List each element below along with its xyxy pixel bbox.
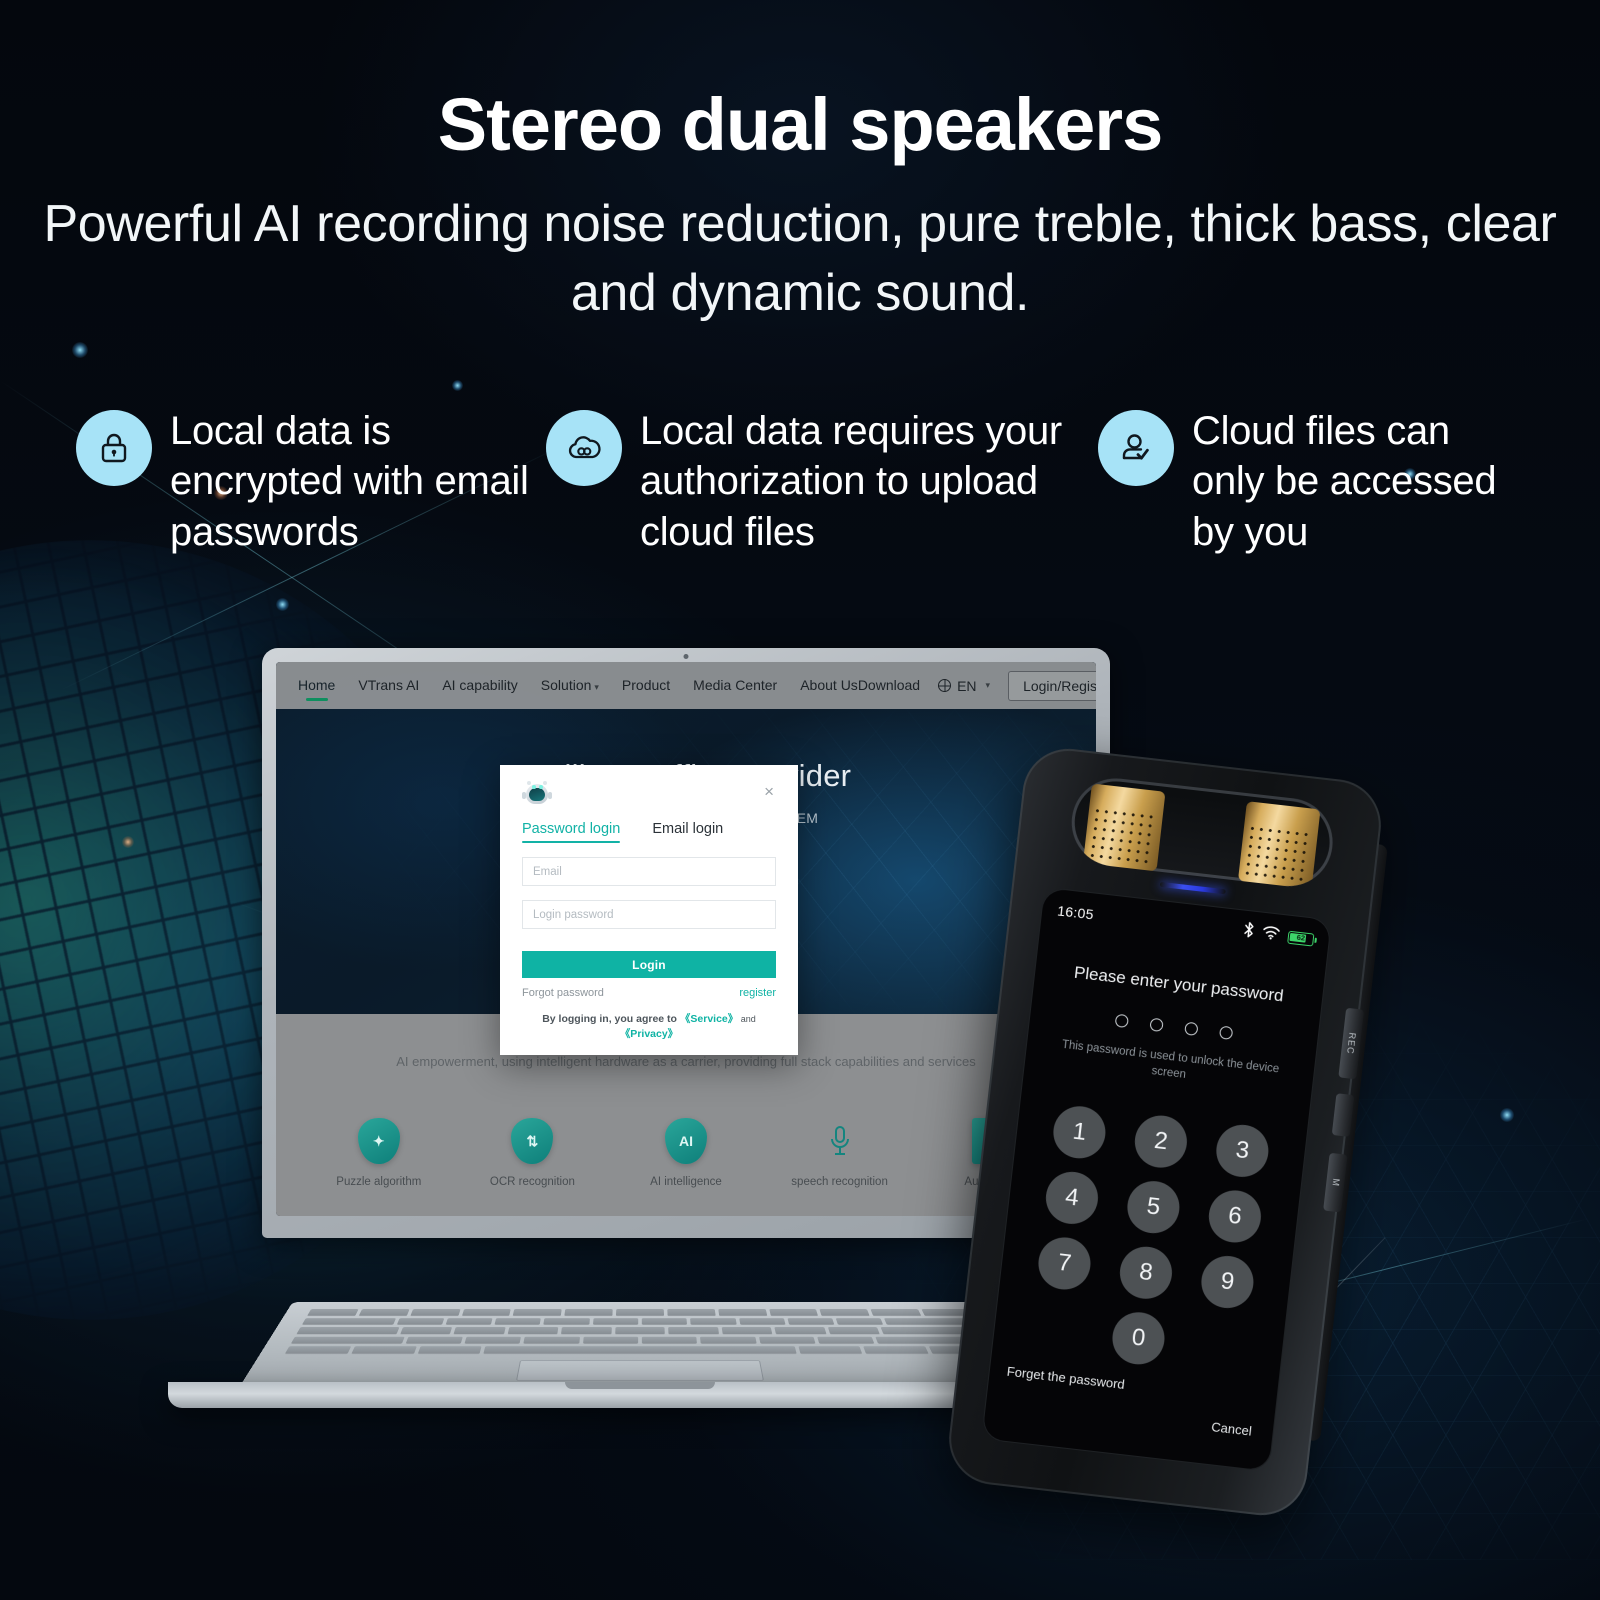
terms-and: and — [738, 1014, 756, 1024]
page-title: Stereo dual speakers — [0, 86, 1600, 164]
lock-screen-title: Please enter your password — [1034, 958, 1324, 1011]
key[interactable] — [351, 1346, 416, 1354]
feature-item-private-cloud-access: Cloud files can only be accessed by you — [1098, 404, 1528, 557]
key[interactable] — [616, 1309, 664, 1316]
key[interactable] — [871, 1309, 922, 1316]
close-icon[interactable]: × — [762, 781, 776, 802]
robot-eye-right — [539, 785, 543, 789]
cloud-link-icon — [546, 410, 622, 486]
capability-item-ai-intelligence[interactable]: AI AI intelligence — [611, 1118, 761, 1188]
robot-face — [529, 788, 545, 801]
capability-item-speech-recognition[interactable]: speech recognition — [765, 1118, 915, 1188]
website-navbar: Home VTrans AI AI capability Solution▾ P… — [276, 662, 1096, 709]
capability-list: ✦ Puzzle algorithm ⇅ OCR recognition AI … — [276, 1118, 1096, 1188]
keypad-key-2[interactable]: 2 — [1132, 1113, 1190, 1171]
nav-label: Home — [298, 677, 335, 693]
keyboard-row — [307, 1309, 973, 1316]
nav-label: Solution — [541, 677, 592, 693]
key[interactable] — [307, 1309, 358, 1316]
capability-label: Puzzle algorithm — [304, 1176, 454, 1188]
key[interactable] — [296, 1327, 399, 1334]
key[interactable] — [302, 1318, 396, 1325]
nav-item-solution[interactable]: Solution▾ — [541, 677, 599, 695]
speaker-left — [1083, 783, 1166, 871]
key[interactable] — [508, 1327, 559, 1334]
laptop-screen: Home VTrans AI AI capability Solution▾ P… — [276, 662, 1096, 1216]
navbar-actions: Download EN ▾ Login/Regis — [858, 671, 1096, 701]
speaker-right — [1238, 801, 1321, 889]
clock: 16:05 — [1056, 902, 1094, 922]
keyboard-row — [285, 1346, 996, 1354]
key[interactable] — [759, 1337, 816, 1345]
feature-label: Cloud files can only be accessed by you — [1192, 404, 1528, 557]
email-field[interactable]: Email — [522, 857, 776, 886]
forget-password-button[interactable]: Forget the password — [1006, 1364, 1125, 1392]
login-button[interactable]: Login — [522, 951, 776, 978]
key[interactable] — [775, 1327, 827, 1334]
battery-percent: 62 — [1288, 932, 1313, 945]
capability-label: AI intelligence — [611, 1176, 761, 1188]
key[interactable] — [291, 1337, 405, 1345]
nav-item-home[interactable]: Home — [298, 677, 335, 695]
chevron-down-icon: ▾ — [594, 682, 599, 692]
key[interactable] — [690, 1318, 736, 1325]
modal-header: × — [522, 781, 776, 807]
keypad-key-1[interactable]: 1 — [1051, 1104, 1109, 1162]
keypad-key-0[interactable]: 0 — [1110, 1310, 1168, 1368]
tab-password-login[interactable]: Password login — [522, 821, 620, 843]
key[interactable] — [359, 1309, 410, 1316]
robot-eye-left — [532, 785, 536, 789]
nav-label: VTrans AI — [358, 677, 419, 693]
key[interactable] — [739, 1318, 786, 1325]
body-tagline: AI empowerment, using intelligent hardwa… — [276, 1054, 1096, 1069]
key[interactable] — [700, 1337, 756, 1345]
keypad-key-3[interactable]: 3 — [1214, 1122, 1272, 1180]
tab-email-login[interactable]: Email login — [652, 821, 723, 843]
nav-label: Download — [858, 677, 920, 693]
nav-item-product[interactable]: Product — [622, 677, 670, 695]
nav-item-about-us[interactable]: About Us — [800, 677, 858, 695]
microphone-icon — [819, 1118, 861, 1164]
key[interactable] — [400, 1327, 452, 1334]
key[interactable] — [769, 1309, 819, 1316]
status-icons: 62 — [1242, 921, 1315, 951]
key[interactable] — [495, 1318, 542, 1325]
keyboard-row — [302, 1318, 979, 1325]
terms-prefix: By logging in, you agree to — [542, 1013, 680, 1025]
login-modal: × Password login Email login Email Login… — [500, 765, 798, 1055]
key[interactable] — [405, 1337, 463, 1345]
key[interactable] — [668, 1327, 718, 1334]
pin-dot — [1149, 1018, 1163, 1032]
key[interactable] — [721, 1327, 772, 1334]
password-field[interactable]: Login password — [522, 900, 776, 929]
robot-antenna-right — [543, 781, 547, 785]
pin-dot — [1184, 1022, 1198, 1036]
key[interactable] — [285, 1346, 351, 1354]
keyboard[interactable] — [285, 1309, 996, 1354]
mode-button-label: M — [1330, 1178, 1341, 1188]
feature-label: Local data requires your authorization t… — [640, 404, 1098, 557]
key[interactable] — [798, 1346, 863, 1354]
key[interactable] — [593, 1318, 638, 1325]
puzzle-icon: ✦ — [358, 1118, 400, 1164]
key[interactable] — [565, 1309, 613, 1316]
lock-screen-hint: This password is used to unlock the devi… — [1050, 1037, 1290, 1095]
capability-label: speech recognition — [765, 1176, 915, 1188]
feature-list: Local data is encrypted with email passw… — [76, 404, 1536, 557]
keypad-key-5[interactable]: 5 — [1125, 1178, 1183, 1236]
glow-dot — [276, 598, 289, 611]
key[interactable] — [524, 1337, 580, 1345]
website-page: Home VTrans AI AI capability Solution▾ P… — [276, 662, 1096, 1216]
feature-item-cloud-authorization: Local data requires your authorization t… — [546, 404, 1098, 557]
user-verified-icon — [1098, 410, 1174, 486]
webcam-icon — [684, 654, 689, 659]
language-selector[interactable]: EN ▾ — [938, 678, 990, 694]
nav-label: About Us — [800, 677, 858, 693]
modal-links: Forgot password register — [522, 987, 776, 999]
key[interactable] — [817, 1337, 875, 1345]
keyboard-row — [291, 1337, 990, 1345]
key[interactable] — [642, 1318, 687, 1325]
key[interactable] — [513, 1309, 562, 1316]
pin-dot — [1219, 1026, 1233, 1040]
page-subtitle: Powerful AI recording noise reduction, p… — [0, 190, 1600, 329]
register-link[interactable]: register — [739, 987, 776, 999]
email-placeholder: Email — [533, 866, 562, 878]
password-placeholder: Login password — [533, 909, 614, 921]
lock-screen-footer: Forget the password Cancel — [999, 1363, 1262, 1452]
service-terms-link[interactable]: 《Service》 — [680, 1013, 738, 1025]
nav-label: Product — [622, 677, 670, 693]
capability-item-ocr-recognition[interactable]: ⇅ OCR recognition — [457, 1118, 607, 1188]
key[interactable] — [396, 1318, 444, 1325]
key[interactable] — [445, 1318, 492, 1325]
feature-item-local-encryption: Local data is encrypted with email passw… — [76, 404, 546, 557]
nav-item-ai-capability[interactable]: AI capability — [442, 677, 517, 695]
language-label: EN — [957, 678, 976, 694]
key[interactable] — [454, 1327, 506, 1334]
globe-icon — [938, 679, 951, 692]
ai-icon: AI — [665, 1118, 707, 1164]
pin-dot — [1115, 1014, 1129, 1028]
forgot-password-link[interactable]: Forgot password — [522, 987, 604, 999]
navbar-links: Home VTrans AI AI capability Solution▾ P… — [298, 677, 858, 695]
glow-dot — [452, 380, 463, 391]
key[interactable] — [544, 1318, 590, 1325]
robot-ear-right — [548, 792, 552, 799]
key[interactable] — [417, 1346, 482, 1354]
rec-button-label: REC — [1345, 1032, 1357, 1055]
laptop-deck — [240, 1302, 1040, 1386]
privacy-terms-link[interactable]: 《Privacy》 — [620, 1028, 678, 1040]
glow-dot — [122, 836, 134, 848]
keyboard-row — [296, 1327, 984, 1334]
key[interactable] — [820, 1309, 870, 1316]
wifi-icon — [1261, 924, 1281, 945]
key[interactable] — [561, 1327, 611, 1334]
glow-dot — [72, 342, 88, 358]
key[interactable] — [718, 1309, 767, 1316]
keypad-key-7[interactable]: 7 — [1036, 1235, 1094, 1293]
lock-icon — [76, 410, 152, 486]
key[interactable] — [464, 1337, 521, 1345]
spacebar-key[interactable] — [484, 1346, 797, 1354]
key[interactable] — [828, 1327, 880, 1334]
key[interactable] — [410, 1309, 460, 1316]
keypad-key-6[interactable]: 6 — [1206, 1188, 1264, 1246]
feature-label: Local data is encrypted with email passw… — [170, 404, 546, 557]
robot-antenna-left — [527, 781, 531, 785]
capability-label: OCR recognition — [457, 1176, 607, 1188]
key[interactable] — [836, 1318, 884, 1325]
key[interactable] — [787, 1318, 834, 1325]
bluetooth-icon — [1242, 921, 1255, 944]
key[interactable] — [864, 1346, 929, 1354]
robot-logo-icon — [522, 781, 552, 807]
nav-label: AI capability — [442, 677, 517, 693]
nav-item-media-center[interactable]: Media Center — [693, 677, 777, 695]
keypad-key-8[interactable]: 8 — [1117, 1244, 1175, 1302]
key[interactable] — [667, 1309, 715, 1316]
ocr-icon: ⇅ — [511, 1118, 553, 1164]
key[interactable] — [462, 1309, 512, 1316]
keypad-key-4[interactable]: 4 — [1043, 1169, 1101, 1227]
key[interactable] — [642, 1337, 697, 1345]
page-header: Stereo dual speakers Powerful AI recordi… — [0, 0, 1600, 329]
nav-item-download[interactable]: Download — [858, 677, 920, 695]
pin-keypad: 1 2 3 4 5 6 7 8 9 0 — [1021, 1103, 1278, 1377]
nav-item-vtrans-ai[interactable]: VTrans AI — [358, 677, 419, 695]
nav-label: Media Center — [693, 677, 777, 693]
key[interactable] — [615, 1327, 665, 1334]
battery-icon: 62 — [1287, 930, 1314, 946]
login-tabs: Password login Email login — [522, 821, 776, 843]
laptop-notch — [565, 1382, 715, 1389]
trackpad[interactable] — [516, 1360, 764, 1381]
glow-dot — [1500, 1108, 1514, 1122]
login-register-button[interactable]: Login/Regis — [1008, 671, 1096, 701]
capability-item-puzzle-algorithm[interactable]: ✦ Puzzle algorithm — [304, 1118, 454, 1188]
cancel-button[interactable]: Cancel — [1211, 1419, 1253, 1438]
keypad-key-9[interactable]: 9 — [1199, 1253, 1257, 1311]
terms-notice: By logging in, you agree to 《Service》 an… — [522, 1011, 776, 1041]
chevron-down-icon: ▾ — [986, 680, 991, 691]
key[interactable] — [583, 1337, 638, 1345]
